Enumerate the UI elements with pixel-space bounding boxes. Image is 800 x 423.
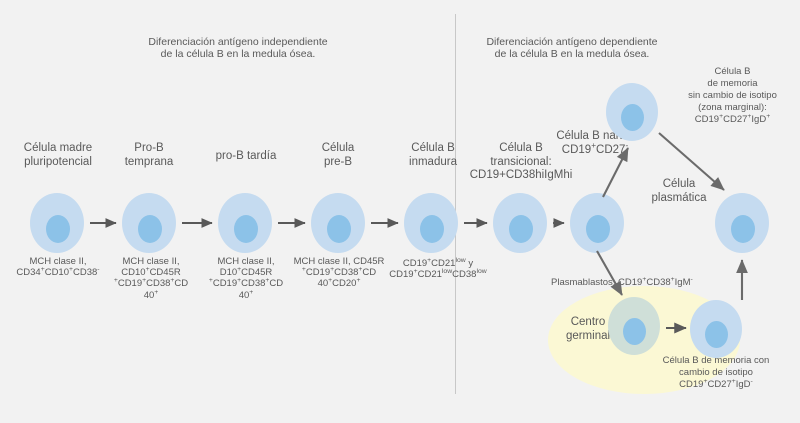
marker-line: +CD19+CD38+CD: [284, 267, 394, 278]
nucleus: [138, 215, 162, 243]
stage-title-celula-madre-pluripotencial: Célula madre pluripotencial: [2, 142, 114, 169]
nucleus: [234, 215, 258, 243]
cell-celula-b-inmadura: [404, 193, 458, 253]
stage-title-line: temprana: [104, 156, 194, 170]
header-right-line1: Diferenciación antígeno dependiente: [462, 36, 682, 48]
stage-markers-pro-b-tardia: MCH clase II, D10+CD45R +CD19+CD38+CD 40…: [198, 256, 294, 301]
stage-markers-pro-b-temprana: MCH clase II, CD10+CD45R +CD19+CD38+CD 4…: [104, 256, 198, 301]
nucleus: [327, 215, 351, 243]
nucleus: [621, 104, 644, 131]
stage-markers-celula-madre-pluripotencial: MCH clase II, CD34+CD10+CD38-: [0, 256, 116, 278]
stage-title-line: Pro-B: [104, 142, 194, 156]
marker-line: 40+: [198, 290, 294, 301]
label-line: Célula B de memoria con: [632, 355, 800, 367]
label-line: Célula B: [665, 66, 800, 78]
label-line: sin cambio de isotipo: [665, 90, 800, 102]
label-plasmablastos: Plasmablastos: CD19+CD38+IgM-: [551, 277, 791, 288]
nucleus: [46, 215, 70, 243]
stage-title-line: CD19+CD38hiIgMhi: [463, 169, 579, 183]
nucleus: [420, 215, 444, 243]
stage-title-line: pre-B: [296, 156, 380, 170]
stage-markers-celula-pre-b: MCH clase II, CD45R +CD19+CD38+CD 40+CD2…: [284, 256, 394, 290]
header-right: Diferenciación antígeno dependiente de l…: [462, 36, 682, 61]
cell-celula-plasmatica: [715, 193, 769, 253]
label-memoria-sin-cambio-isotipo: Célula B de memoria sin cambio de isotip…: [665, 66, 800, 125]
marker-line: CD34+CD10+CD38-: [0, 267, 116, 278]
stage-title-celula-pre-b: Célula pre-B: [296, 142, 380, 169]
stage-title-pro-b-temprana: Pro-B temprana: [104, 142, 194, 169]
cell-celula-b-transicional: [493, 193, 547, 253]
label-celula-plasmatica: Célula plasmática: [640, 178, 718, 205]
cell-pro-b-tardia: [218, 193, 272, 253]
label-line: (zona marginal):: [665, 102, 800, 114]
nucleus: [705, 321, 728, 348]
marker-line: +CD19+CD38+CD: [198, 278, 294, 289]
cell-memoria-sin-cambio-isotipo: [606, 83, 658, 141]
label-line: CD19+CD27+IgD+: [665, 114, 800, 126]
nucleus: [623, 318, 646, 345]
marker-line: 40+CD20+: [284, 278, 394, 289]
diagram-canvas: Diferenciación antígeno independiente de…: [0, 0, 800, 423]
marker-line: MCH clase II,: [198, 256, 294, 267]
header-left-line1: Diferenciación antígeno independiente: [118, 36, 358, 48]
stage-title-line: CD19+CD27-: [540, 144, 650, 158]
nucleus: [509, 215, 533, 243]
label-line: plasmática: [640, 192, 718, 206]
header-left: Diferenciación antígeno independiente de…: [118, 36, 358, 61]
label-line: CD19+CD27+IgD-: [632, 379, 800, 391]
stage-title-pro-b-tardia: pro-B tardía: [196, 150, 296, 164]
stage-title-line: Célula madre: [2, 142, 114, 156]
nucleus: [731, 215, 755, 243]
cell-memoria-con-cambio-isotipo: [690, 300, 742, 358]
stage-title-line: transicional:: [463, 156, 579, 170]
cell-centro-germinal: [608, 297, 660, 355]
label-line: Célula: [640, 178, 718, 192]
header-right-line2: de la célula B en la medula ósea.: [462, 48, 682, 60]
marker-line: MCH clase II,: [104, 256, 198, 267]
stage-title-line: pluripotencial: [2, 156, 114, 170]
cell-celula-madre-pluripotencial: [30, 193, 84, 253]
cell-celula-pre-b: [311, 193, 365, 253]
nucleus: [586, 215, 610, 243]
label-line: de memoria: [665, 78, 800, 90]
stage-title-line: Célula: [296, 142, 380, 156]
cell-pro-b-temprana: [122, 193, 176, 253]
marker-line: +CD19+CD38+CD: [104, 278, 198, 289]
marker-line: MCH clase II, CD45R: [284, 256, 394, 267]
marker-line: 40+: [104, 290, 198, 301]
marker-line: CD19+CD21lowCD38low: [382, 269, 494, 280]
stage-title-line: pro-B tardía: [196, 150, 296, 164]
header-left-line2: de la célula B en la medula ósea.: [118, 48, 358, 60]
stage-markers-celula-b-inmadura: CD19+CD21low y CD19+CD21lowCD38low: [382, 258, 494, 280]
label-memoria-con-cambio-isotipo: Célula B de memoria con cambio de isotip…: [632, 355, 800, 391]
label-line: Plasmablastos: CD19+CD38+IgM-: [551, 277, 693, 288]
cell-celula-b-naive: [570, 193, 624, 253]
marker-line: CD10+CD45R: [104, 267, 198, 278]
label-line: cambio de isotipo: [632, 367, 800, 379]
